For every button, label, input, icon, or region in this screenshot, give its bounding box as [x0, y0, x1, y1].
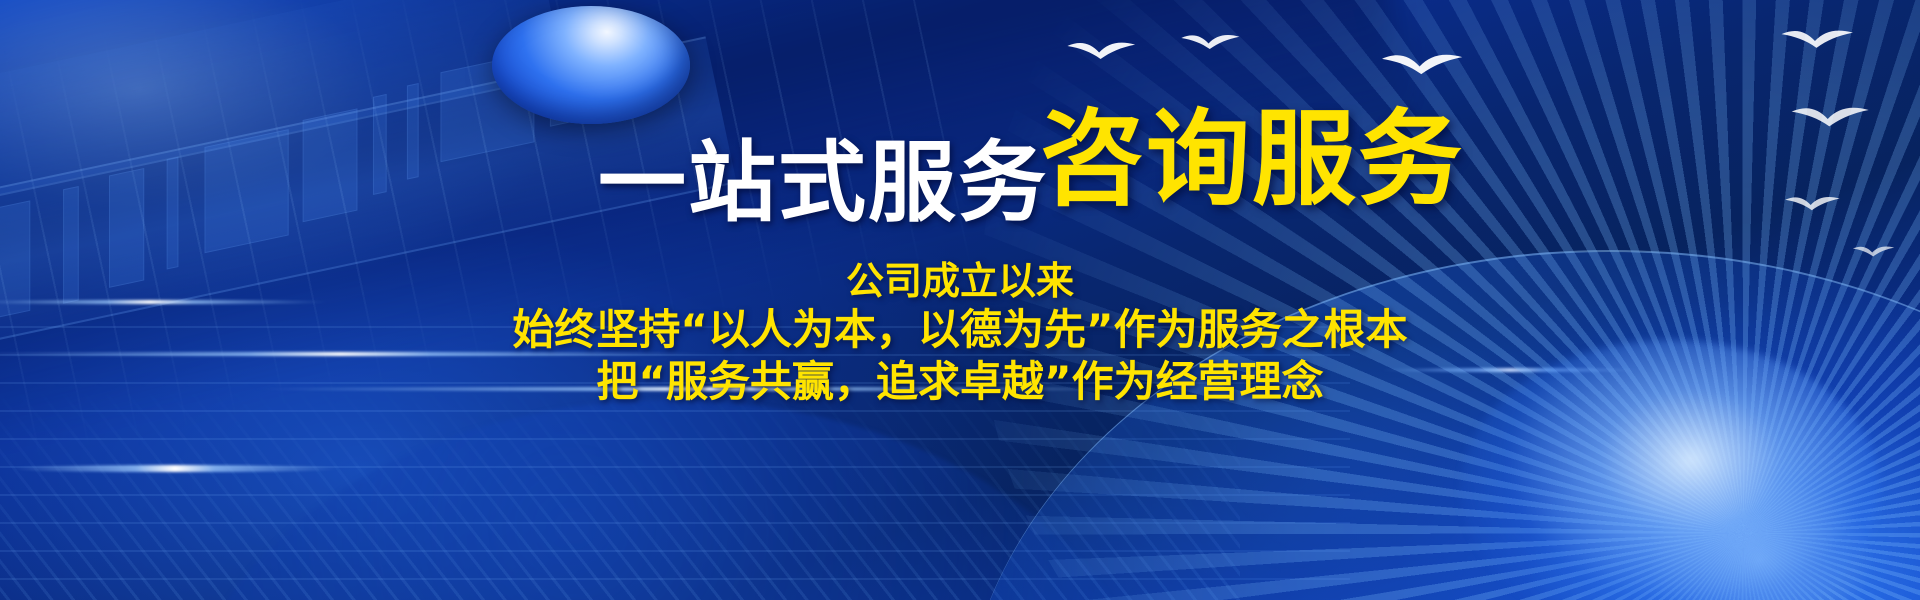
- headline-inner: 一站式服务咨询服务: [448, 92, 1472, 243]
- body-line-3: 把“服务共赢，追求卓越”作为经营理念: [0, 356, 1920, 407]
- promo-banner: 一站式服务咨询服务 公司成立以来 始终坚持“以人为本，以德为先”作为服务之根本 …: [0, 0, 1920, 600]
- diagonal-dot-grid: [0, 380, 1240, 600]
- seagull-icon: [1066, 40, 1138, 65]
- headline-yellow-text: 咨询服务: [1040, 98, 1464, 220]
- body-line-2: 始终坚持“以人为本，以德为先”作为服务之根本: [0, 304, 1920, 355]
- headline: 一站式服务咨询服务: [0, 92, 1920, 243]
- dome-shadow: [180, 400, 1160, 600]
- seagull-icon: [1380, 52, 1466, 81]
- lens-flare: [10, 465, 340, 472]
- seagull-icon: [1180, 33, 1242, 54]
- seagull-icon: [1780, 28, 1856, 54]
- headline-white-text: 一站式服务: [598, 131, 1048, 234]
- body-text-block: 公司成立以来 始终坚持“以人为本，以德为先”作为服务之根本 把“服务共赢，追求卓…: [0, 258, 1920, 407]
- body-line-1: 公司成立以来: [0, 258, 1920, 304]
